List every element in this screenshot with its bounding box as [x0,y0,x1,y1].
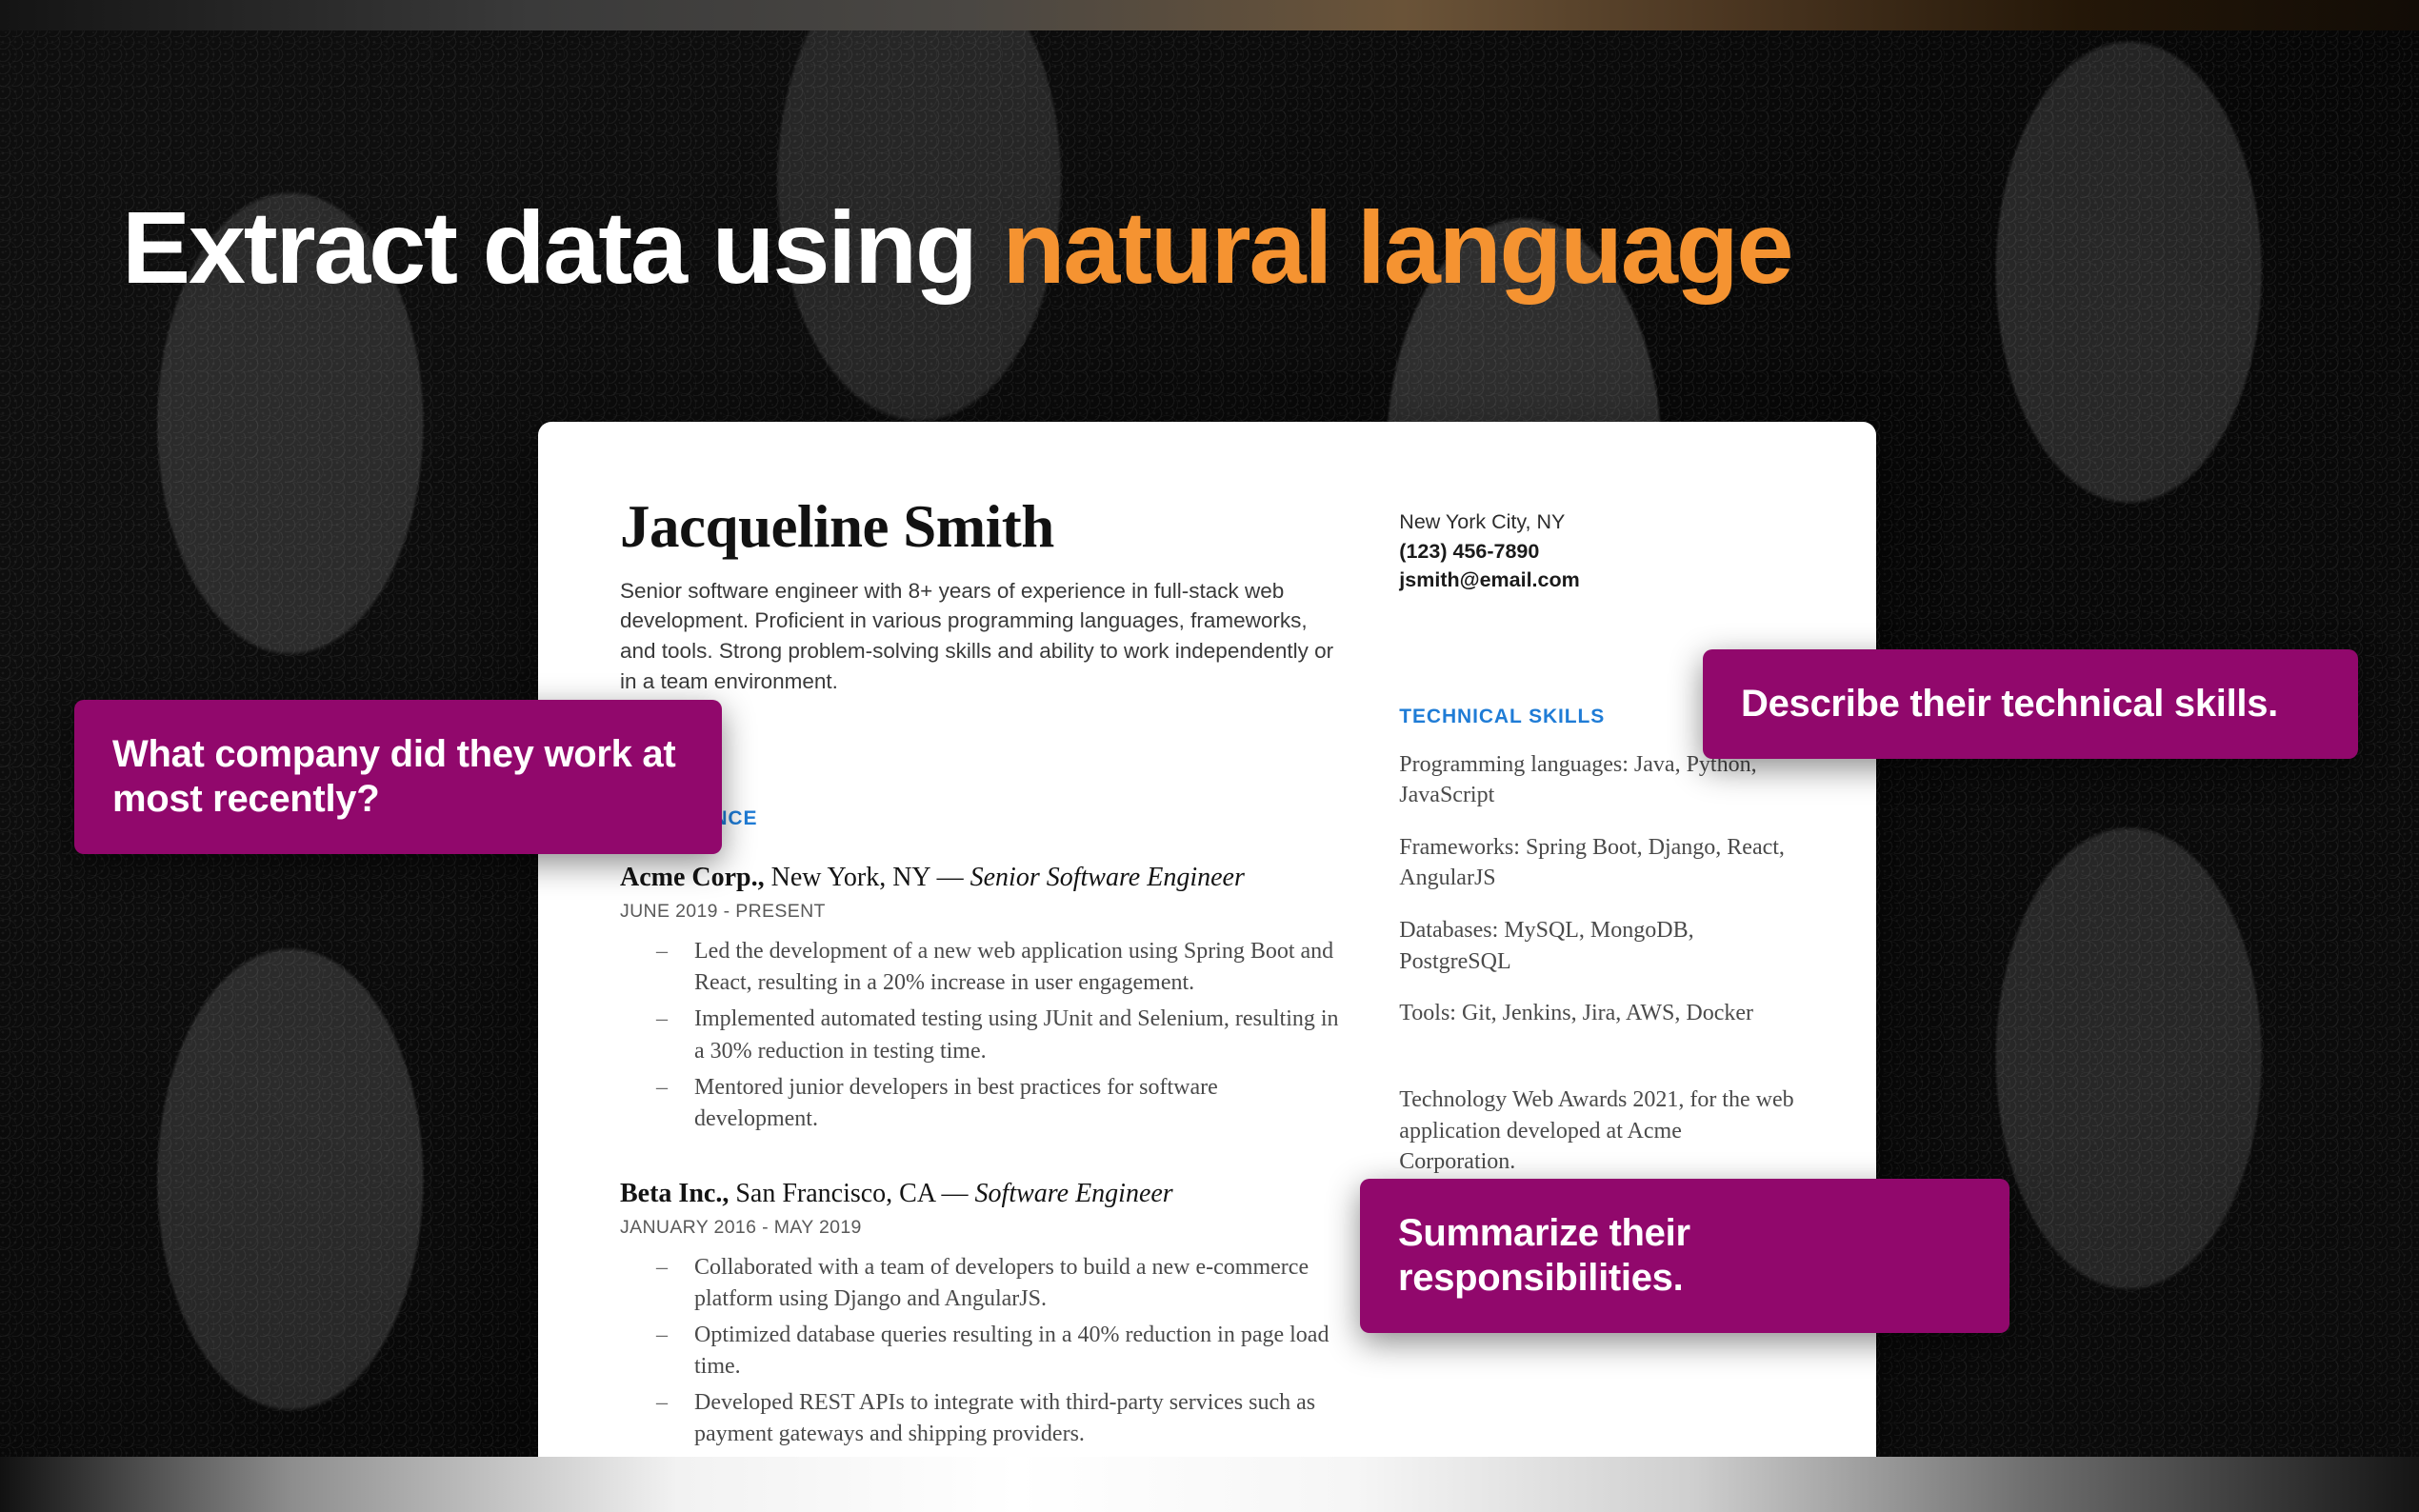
bullet-text: Led the development of a new web applica… [694,939,1333,995]
resume-candidate-name: Jacqueline Smith [620,496,1344,559]
award-item: Technology Web Awards 2021, for the web … [1399,1084,1794,1178]
bullet-dash-icon: – [656,1320,668,1351]
section-heading-experience: EXPERIENCE [620,807,1344,830]
callout-summarize-responsibilities[interactable]: Summarize their responsibilities. [1360,1179,2009,1333]
bullet-dash-icon: – [656,1072,668,1104]
bullet-text: Implemented automated testing using JUni… [694,1006,1339,1063]
experience-location: San Francisco, CA — [729,1179,974,1208]
experience-bullet-list: –Led the development of a new web applic… [620,936,1344,1135]
contact-email: jsmith@email.com [1399,566,1794,595]
bullet-text: Developed REST APIs to integrate with th… [694,1390,1315,1446]
experience-role: Senior Software Engineer [970,863,1245,892]
top-chrome-bar [0,0,2419,30]
page-title: Extract data using natural language [122,193,1791,302]
skill-item: Frameworks: Spring Boot, Django, React, … [1399,832,1794,894]
bullet-dash-icon: – [656,1004,668,1035]
bullet-text: Collaborated with a team of developers t… [694,1255,1309,1311]
experience-role: Software Engineer [975,1179,1173,1208]
bullet-dash-icon: – [656,1387,668,1419]
page-title-accent: natural language [1002,189,1791,305]
contact-phone: (123) 456-7890 [1399,537,1794,567]
resume-summary: Senior software engineer with 8+ years o… [620,576,1344,698]
slide-root: Extract data using natural language Jacq… [0,0,2419,1512]
list-item: –Mentored junior developers in best prac… [620,1072,1344,1135]
experience-location: New York, NY — [765,863,970,892]
skill-item: Databases: MySQL, MongoDB, PostgreSQL [1399,915,1794,977]
resume-left-column: Jacqueline Smith Senior software enginee… [620,496,1344,1469]
experience-dates: JANUARY 2016 - MAY 2019 [620,1217,1344,1239]
bullet-text: Mentored junior developers in best pract… [694,1075,1218,1131]
bottom-chrome-bar [0,1457,2419,1512]
callout-what-company[interactable]: What company did they work at most recen… [74,700,722,854]
callout-describe-skills[interactable]: Describe their technical skills. [1703,649,2358,759]
experience-company: Beta Inc., [620,1179,729,1208]
skill-item: Tools: Git, Jenkins, Jira, AWS, Docker [1399,998,1794,1029]
experience-bullet-list: –Collaborated with a team of developers … [620,1252,1344,1451]
bullet-dash-icon: – [656,936,668,967]
experience-company: Acme Corp., [620,863,765,892]
experience-title-line: Acme Corp., New York, NY — Senior Softwa… [620,863,1344,893]
list-item: –Developed REST APIs to integrate with t… [620,1387,1344,1450]
bullet-dash-icon: – [656,1252,668,1283]
list-item: –Led the development of a new web applic… [620,936,1344,999]
experience-title-line: Beta Inc., San Francisco, CA — Software … [620,1179,1344,1209]
bullet-text: Optimized database queries resulting in … [694,1323,1329,1379]
contact-location: New York City, NY [1399,507,1794,537]
experience-entry: Acme Corp., New York, NY — Senior Softwa… [620,863,1344,1135]
list-item: –Optimized database queries resulting in… [620,1320,1344,1383]
experience-entry: Beta Inc., San Francisco, CA — Software … [620,1179,1344,1451]
list-item: –Collaborated with a team of developers … [620,1252,1344,1315]
page-title-lead: Extract data using [122,189,1002,305]
list-item: –Implemented automated testing using JUn… [620,1004,1344,1066]
experience-dates: JUNE 2019 - PRESENT [620,901,1344,923]
